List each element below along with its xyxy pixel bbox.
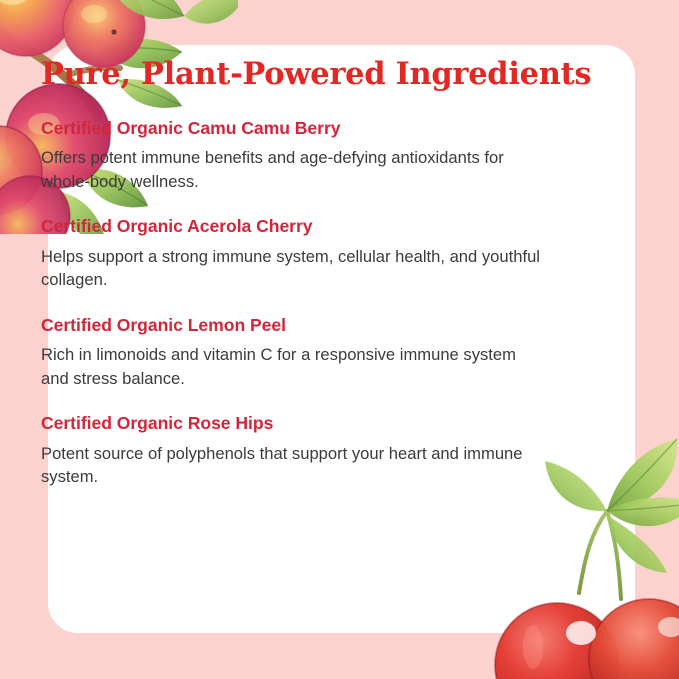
- ingredient-description: Rich in limonoids and vitamin C for a re…: [41, 343, 546, 390]
- page-title: Pure, Plant-Powered Ingredients: [41, 58, 645, 92]
- card-content: Pure, Plant-Powered Ingredients Certifie…: [41, 58, 645, 489]
- ingredient-description: Helps support a strong immune system, ce…: [41, 245, 546, 292]
- ingredient-name: Certified Organic Lemon Peel: [41, 315, 645, 336]
- ingredient-name: Certified Organic Camu Camu Berry: [41, 118, 645, 139]
- ingredient-infographic: Pure, Plant-Powered Ingredients Certifie…: [0, 0, 679, 679]
- ingredient-description: Offers potent immune benefits and age-de…: [41, 146, 546, 193]
- ingredient-item-rose-hips: Certified Organic Rose Hips Potent sourc…: [41, 413, 645, 489]
- ingredient-item-acerola-cherry: Certified Organic Acerola Cherry Helps s…: [41, 216, 645, 292]
- ingredient-name: Certified Organic Rose Hips: [41, 413, 645, 434]
- ingredient-name: Certified Organic Acerola Cherry: [41, 216, 645, 237]
- ingredient-item-lemon-peel: Certified Organic Lemon Peel Rich in lim…: [41, 315, 645, 391]
- ingredient-item-camu-camu-berry: Certified Organic Camu Camu Berry Offers…: [41, 118, 645, 194]
- ingredient-description: Potent source of polyphenols that suppor…: [41, 442, 546, 489]
